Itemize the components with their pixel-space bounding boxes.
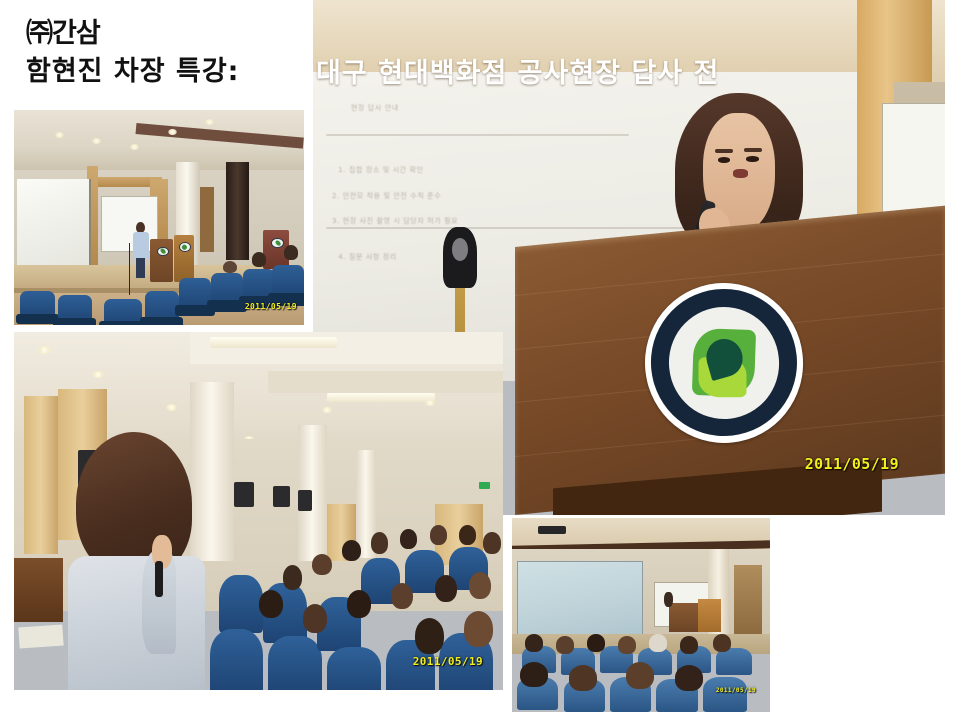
- eye: [746, 156, 758, 161]
- speaker-figure: [133, 222, 149, 278]
- eye: [718, 157, 730, 162]
- podium: [14, 558, 63, 622]
- auditorium-seat: [145, 291, 180, 325]
- wall-speaker: [234, 482, 254, 507]
- timestamp: 2011/05/19: [716, 687, 756, 694]
- podium-emblem: [157, 247, 169, 257]
- audience-head: [430, 525, 447, 545]
- audience-head: [569, 665, 597, 690]
- photo-audience-wide: 2011/05/19: [14, 332, 503, 690]
- auditorium-seat: [716, 648, 752, 675]
- audience-head: [223, 261, 238, 274]
- emblem-diamond-mark: [689, 326, 758, 399]
- auditorium-seat: [104, 299, 142, 325]
- auditorium-seat: [703, 677, 747, 712]
- auditorium-seat: [210, 629, 264, 690]
- projection-screen: [17, 179, 92, 265]
- audience-head: [284, 245, 299, 260]
- audience-head: [649, 634, 667, 651]
- projection-screen: [517, 561, 643, 641]
- ceiling-speaker: [538, 526, 566, 534]
- podium-side: [698, 599, 721, 632]
- audience-head: [400, 529, 417, 549]
- photo-lecture-hall-wide: 2011/05/19: [14, 110, 304, 325]
- audience-head: [525, 634, 543, 651]
- audience-head: [303, 604, 327, 633]
- strip-light: [210, 337, 337, 348]
- timestamp: 2011/05/19: [413, 655, 483, 668]
- wood-panel: [24, 396, 58, 554]
- photo-content: 2011/05/19: [512, 518, 770, 712]
- audience-head: [483, 532, 500, 553]
- audience-head: [435, 575, 457, 602]
- mouth: [733, 169, 747, 177]
- mic-clip: [443, 227, 478, 289]
- audience-head: [618, 636, 636, 653]
- slide-line: 2. 안전모 착용 및 안전 수칙 준수: [332, 191, 441, 201]
- audience-head: [342, 540, 362, 561]
- audience-head: [459, 525, 476, 545]
- downlight: [55, 132, 64, 138]
- audience-head: [252, 252, 267, 267]
- daegu-university-emblem: 대구대학교DAEGUUNIVERSITY1956LOVE·LIGHT·FREED…: [637, 275, 811, 450]
- audience-head: [675, 665, 703, 690]
- handheld-mic: [155, 561, 163, 597]
- audience-head: [347, 590, 371, 619]
- mic-stand: [129, 243, 130, 295]
- audience-head: [713, 634, 731, 651]
- headline-white: 대구 현대백화점 공사현장 답사 전: [316, 60, 719, 87]
- speaker-jacket: [68, 556, 205, 690]
- auditorium-seat: [58, 295, 93, 325]
- podium: [669, 603, 697, 632]
- audience-head: [391, 583, 413, 610]
- headline-black: 함현진 차장 특강:: [26, 58, 239, 85]
- wall-speaker: [298, 490, 313, 511]
- collage-canvas: ㈜간삼 함현진 차장 특강: 대구 현대백화점 공사현장 답사 전: [0, 0, 960, 720]
- timestamp: 2011/05/19: [805, 455, 899, 473]
- audience-head: [556, 636, 574, 653]
- photo-audience-screen: 2011/05/19: [512, 518, 770, 712]
- downlight: [205, 119, 214, 125]
- podium-front: [150, 239, 173, 282]
- podium-emblem: [271, 238, 283, 248]
- papers-on-podium: [18, 624, 63, 648]
- slide-line: 1. 집합 장소 및 시간 확인: [338, 165, 423, 175]
- audience-head: [587, 634, 605, 651]
- strip-light: [327, 393, 435, 402]
- speaker-legs: [136, 258, 145, 278]
- speaker-back-view: [68, 432, 200, 690]
- photo-content: 2011/05/19: [14, 332, 503, 690]
- speaker-figure: [664, 592, 673, 608]
- downlight: [166, 404, 177, 411]
- downlight: [425, 400, 435, 406]
- door: [734, 565, 762, 635]
- eyebrow: [744, 148, 763, 152]
- exit-sign: [479, 482, 490, 489]
- eyebrow: [715, 149, 734, 153]
- podium-emblem: [179, 242, 191, 252]
- wall-speaker: [273, 486, 290, 507]
- curtain: [226, 162, 249, 261]
- audience-head: [626, 662, 654, 689]
- audience-head: [464, 611, 493, 647]
- slide-line: 4. 질문 사항 정리: [338, 252, 397, 262]
- photo-content: 2011/05/19: [14, 110, 304, 325]
- auditorium-seat: [327, 647, 381, 690]
- auditorium-seat: [272, 265, 304, 302]
- audience-head: [469, 572, 491, 599]
- audience-head: [283, 565, 303, 590]
- auditorium-seat: [211, 273, 243, 307]
- audience-head: [259, 590, 283, 619]
- company-logo-text: ㈜간삼: [26, 20, 100, 47]
- auditorium-seat: [268, 636, 322, 690]
- slide-line: 3. 현장 사진 촬영 시 담당자 허가 필요: [332, 216, 458, 226]
- slide-line: 현장 답사 안내: [351, 103, 399, 113]
- audience-head: [520, 662, 548, 687]
- audience-head: [312, 554, 332, 575]
- auditorium-seat: [20, 291, 55, 321]
- audience-head: [415, 618, 444, 654]
- speaker-body: [133, 232, 149, 259]
- podium-side: [174, 235, 194, 282]
- audience-head: [680, 636, 698, 653]
- auditorium-seat: [219, 575, 263, 632]
- ceiling-soffit: [268, 371, 503, 392]
- speaker-hair: [76, 432, 192, 576]
- timestamp: 2011/05/19: [245, 302, 297, 311]
- door: [200, 187, 215, 252]
- audience-head: [371, 532, 388, 553]
